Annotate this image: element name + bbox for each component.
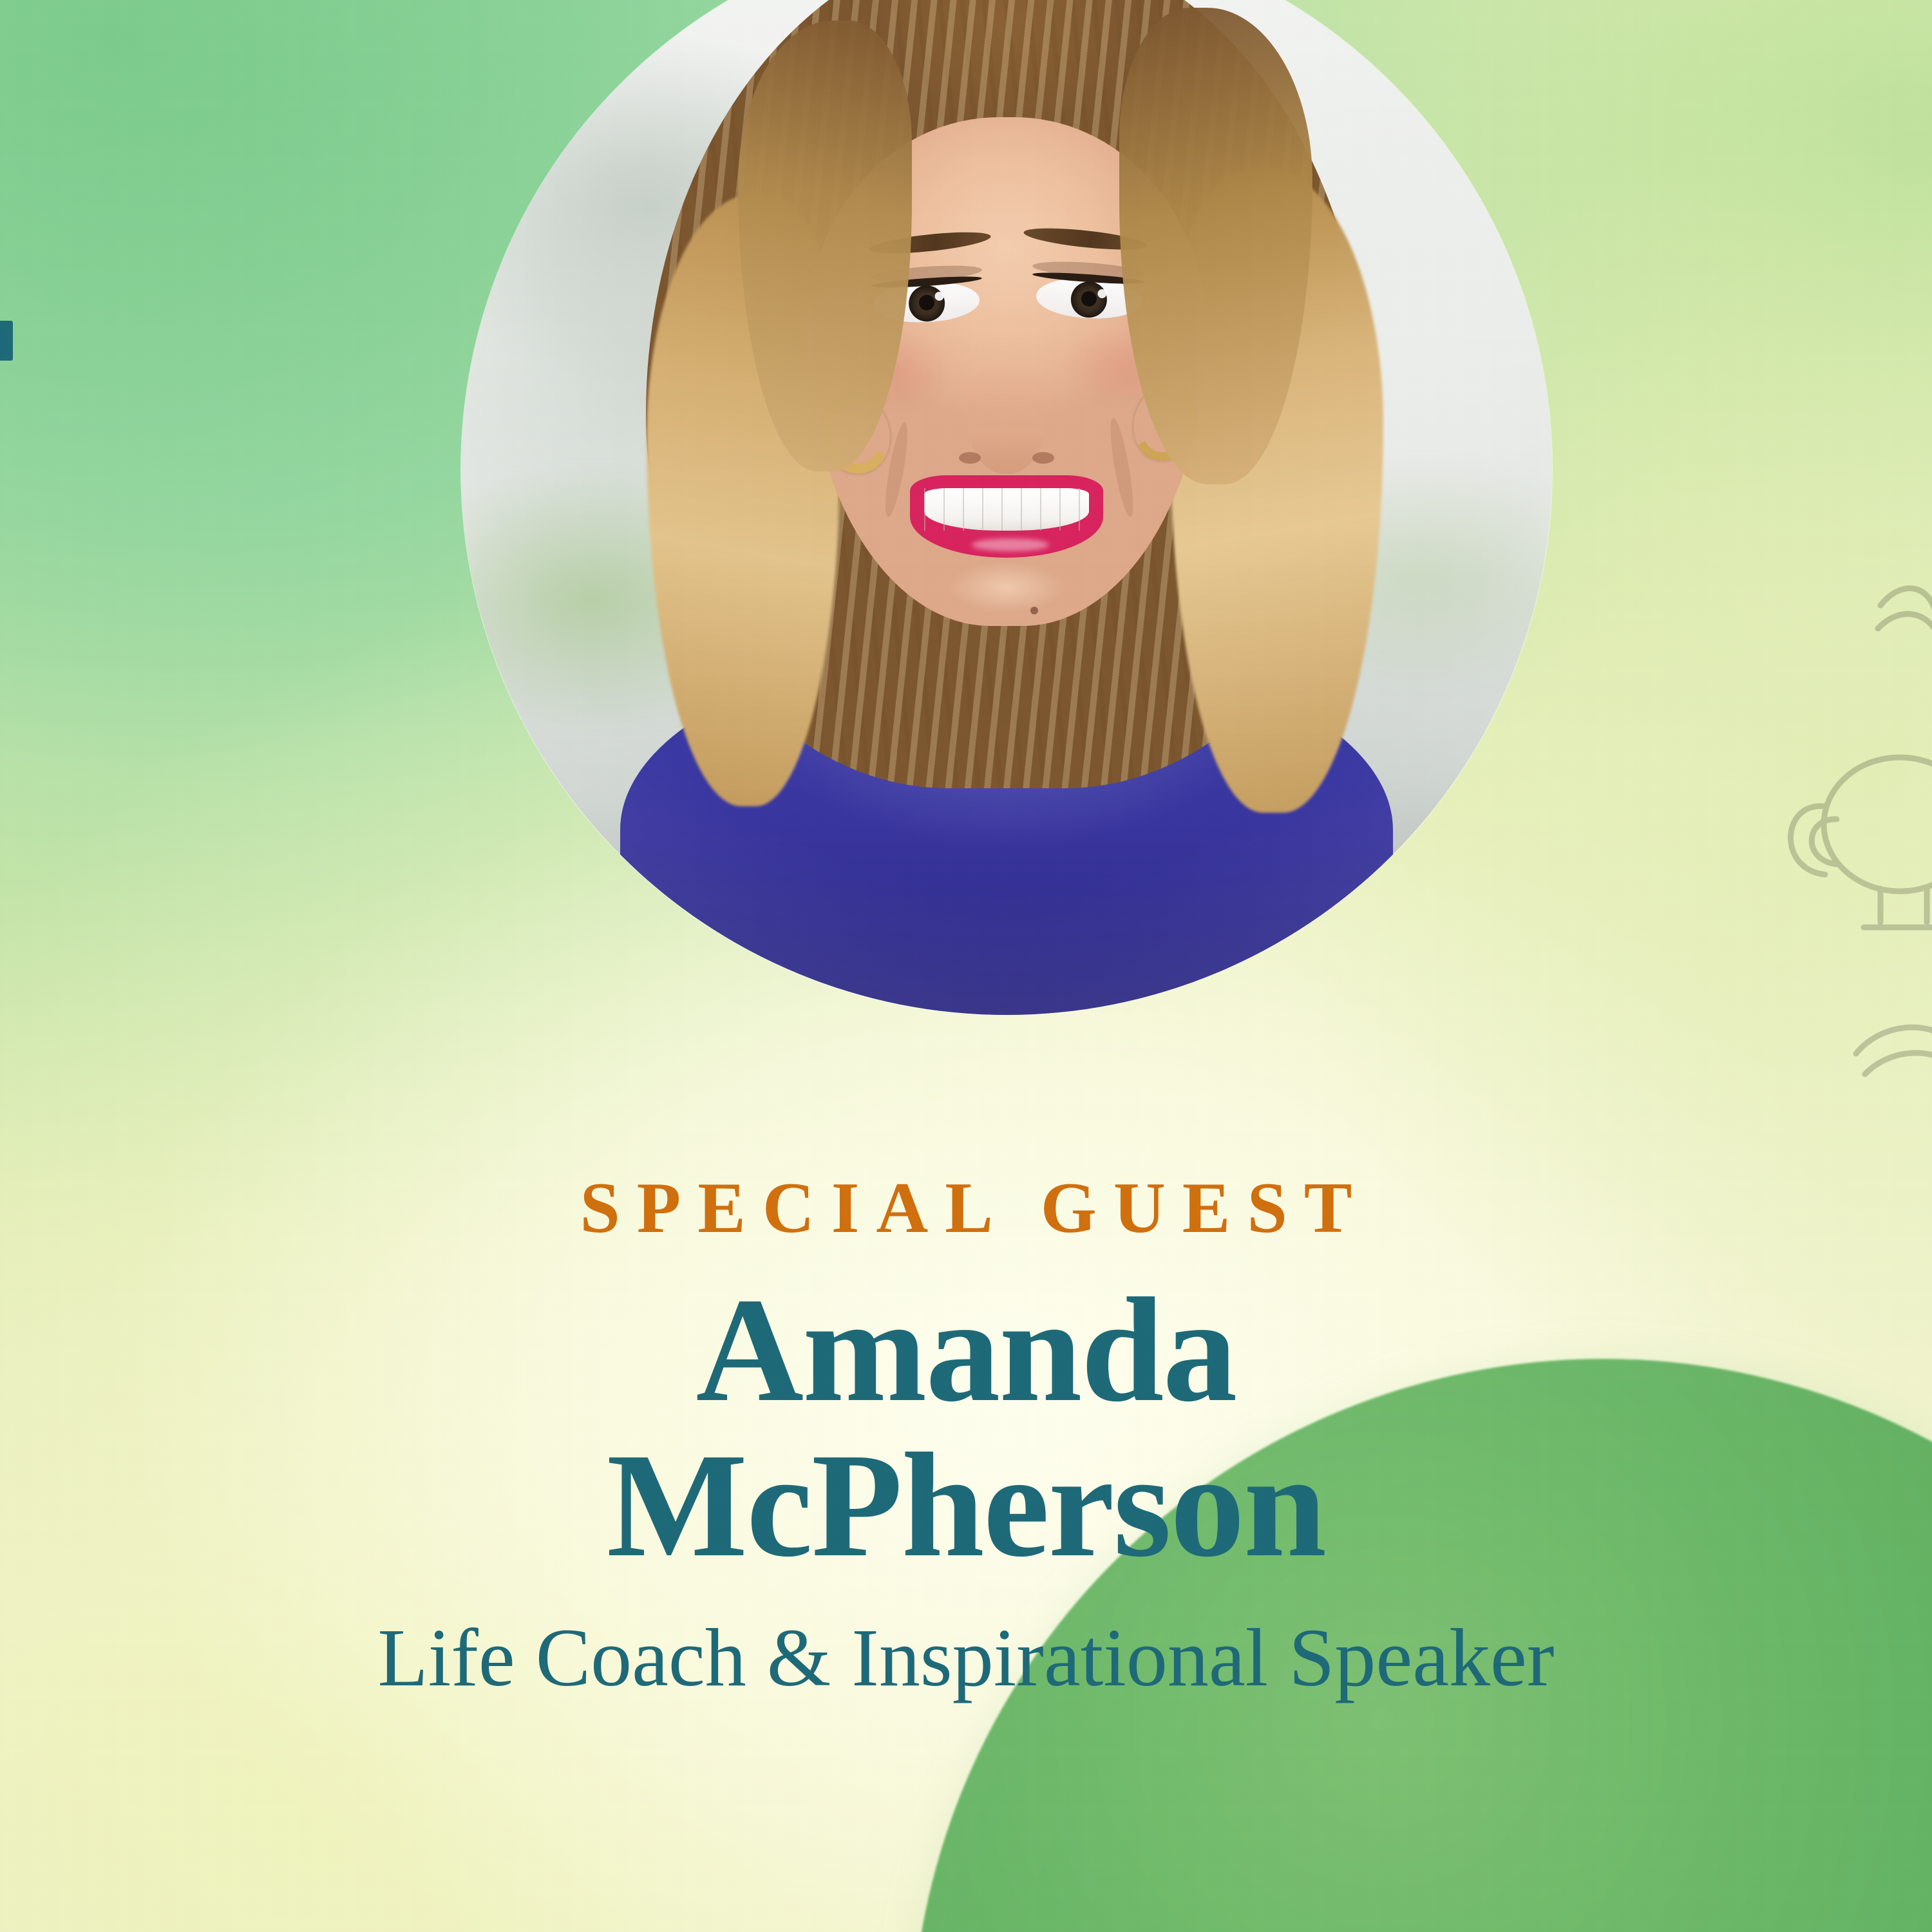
portrait-beauty-mark [1030, 607, 1038, 614]
special-guest-eyebrow: SPECIAL GUEST [0, 1172, 1932, 1244]
guest-role: Life Coach & Inspirational Speaker [0, 1609, 1932, 1707]
portrait-chin-highlight [949, 562, 1065, 613]
portrait-teeth [924, 488, 1089, 531]
portrait-smile-line-right [1106, 417, 1138, 518]
teapot-lineart [1687, 567, 1932, 1146]
guest-name: Amanda McPherson [0, 1273, 1932, 1584]
portrait-lip-highlight [972, 538, 1049, 551]
guest-text-block: SPECIAL GUEST Amanda McPherson Life Coac… [0, 1172, 1932, 1707]
guest-portrait-avatar [461, 0, 1552, 1015]
special-guest-card: SPECIAL GUEST Amanda McPherson Life Coac… [0, 0, 1932, 1932]
left-edge-tab [0, 321, 13, 361]
portrait-mouth [910, 475, 1103, 558]
portrait-nostril-right [1032, 452, 1054, 464]
portrait-teeth-gaps [924, 488, 1089, 531]
portrait-nostril-left [959, 452, 981, 464]
